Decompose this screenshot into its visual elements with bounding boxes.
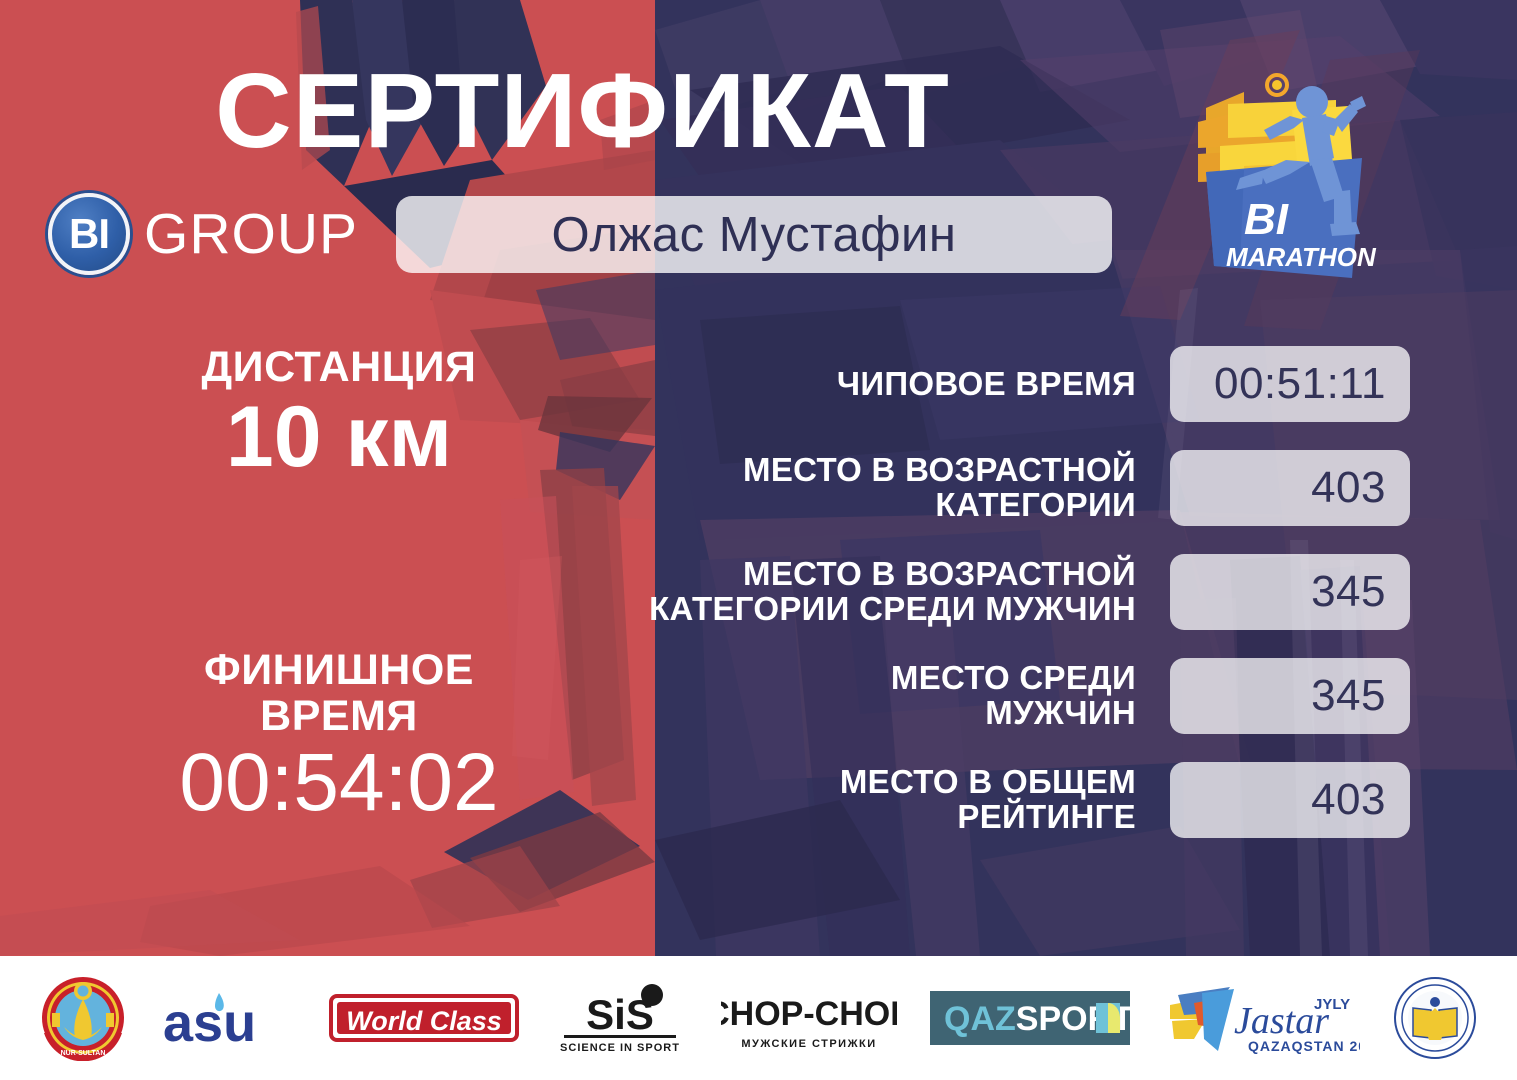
logo-marathon-text: MARATHON [1226,242,1377,272]
sponsor-nur-sultan: NUR-SULTAN [40,975,126,1061]
stats-list: ЧИПОВОЕ ВРЕМЯ 00:51:11 МЕСТО В ВОЗРАСТНО… [470,340,1410,860]
nur-sultan-emblem-icon: NUR-SULTAN [40,975,126,1061]
sponsor-sis: SiS SCIENCE IN SPORT [552,983,688,1053]
stat-value-pill: 403 [1170,762,1410,838]
jastar-jyly-logo-icon: Jastar JYLY QAZAQSTAN 2019 [1164,979,1360,1057]
stat-row-age-category-place: МЕСТО В ВОЗРАСТНОЙ КАТЕГОРИИ 403 [470,444,1410,532]
stat-row-age-category-men-place: МЕСТО В ВОЗРАСТНОЙ КАТЕГОРИИ СРЕДИ МУЖЧИ… [470,548,1410,636]
sponsor-qazsport: QAZSPORT [930,991,1130,1045]
bi-group-wordmark: GROUP [144,201,358,267]
stat-label: МЕСТО СРЕДИ МУЖЧИН [470,661,1170,731]
stat-label: МЕСТО В ВОЗРАСТНОЙ КАТЕГОРИИ [470,453,1170,523]
sponsor-asu: asu [159,985,295,1051]
world-class-logo-icon: World Class [329,988,519,1048]
sis-wordmark: SiS [586,991,654,1038]
bi-group-logo: BI GROUP [48,193,358,275]
participant-name-text: Олжас Мустафин [551,207,956,263]
stat-label: ЧИПОВОЕ ВРЕМЯ [470,367,1170,402]
stat-value-pill: 345 [1170,658,1410,734]
asu-wordmark: asu [163,993,256,1051]
nur-sultan-label: NUR-SULTAN [61,1050,106,1057]
sis-logo-icon: SiS SCIENCE IN SPORT [552,983,688,1053]
bi-marathon-logo: BI MARATHON [1184,62,1384,300]
stat-label: МЕСТО В ОБЩЕМ РЕЙТИНГЕ [470,765,1170,835]
stat-label: МЕСТО В ВОЗРАСТНОЙ КАТЕГОРИИ СРЕДИ МУЖЧИ… [470,557,1170,627]
jyly-text: JYLY [1314,996,1350,1013]
certificate-page: СЕРТИФИКАТ BI GROUP Олжас Мустафин [0,0,1517,1080]
stat-row-men-place: МЕСТО СРЕДИ МУЖЧИН 345 [470,652,1410,740]
ministry-emblem-icon [1393,976,1477,1060]
stat-row-chip-time: ЧИПОВОЕ ВРЕМЯ 00:51:11 [470,340,1410,428]
qazsport-logo-icon: QAZSPORT [930,991,1130,1045]
chop-chop-logo-icon: CHOP-CHOP МУЖСКИЕ СТРИЖКИ [721,983,897,1053]
sis-tagline: SCIENCE IN SPORT [560,1042,680,1053]
participant-name-field: Олжас Мустафин [396,196,1112,273]
sponsor-ministry [1393,976,1477,1060]
stat-value-pill: 403 [1170,450,1410,526]
stat-value-pill: 345 [1170,554,1410,630]
bi-badge-icon: BI [48,193,130,275]
sponsor-jastar-jyly: Jastar JYLY QAZAQSTAN 2019 [1164,979,1360,1057]
sponsor-world-class: World Class [329,988,519,1048]
chop-chop-wordmark: CHOP-CHOP [721,995,897,1033]
jastar-sub: QAZAQSTAN 2019 [1248,1038,1360,1054]
sponsor-chop-chop: CHOP-CHOP МУЖСКИЕ СТРИЖКИ [721,983,897,1053]
page-title: СЕРТИФИКАТ [0,58,1165,164]
asu-logo-icon: asu [159,985,295,1051]
sponsors-bar: NUR-SULTAN asu World Class SiS SC [0,956,1517,1080]
logo-bi-text: BI [1244,195,1289,244]
stat-value-pill: 00:51:11 [1170,346,1410,422]
chop-chop-tagline: МУЖСКИЕ СТРИЖКИ [741,1038,876,1050]
stat-row-overall-place: МЕСТО В ОБЩЕМ РЕЙТИНГЕ 403 [470,756,1410,844]
world-class-wordmark: World Class [346,1006,502,1036]
